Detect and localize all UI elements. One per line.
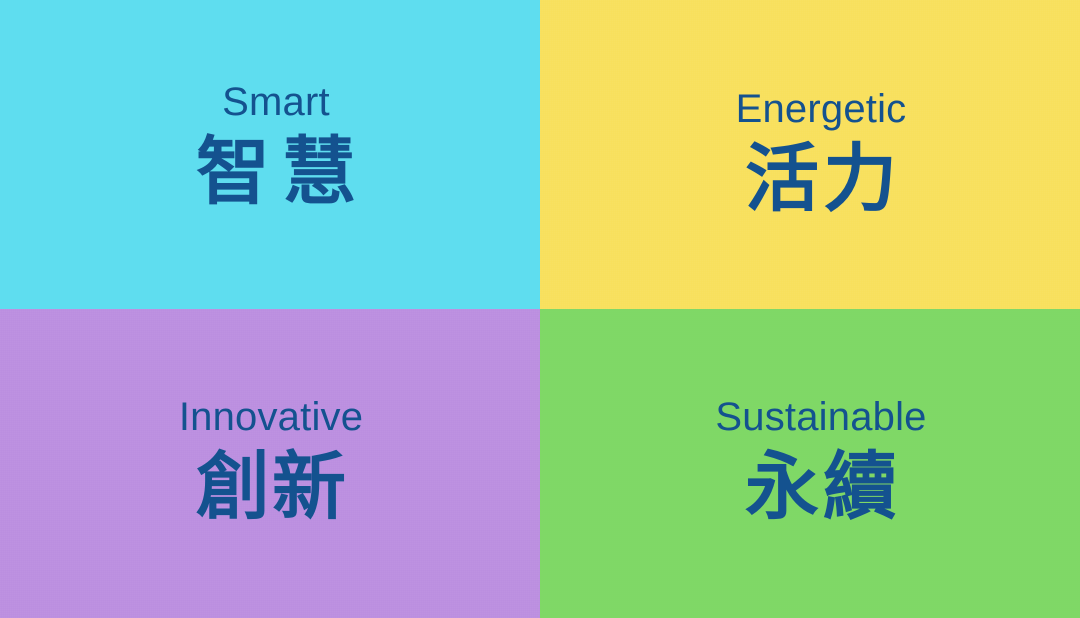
brand-values-grid: Smart 智慧 Energetic 活力 Innovative 創新 Sust… bbox=[0, 0, 1080, 618]
value-label-en-innovative: Innovative bbox=[179, 397, 363, 437]
value-label-en-energetic: Energetic bbox=[736, 89, 907, 129]
value-text-block-sustainable: Sustainable 永續 bbox=[715, 397, 926, 527]
quadrant-innovative: Innovative 創新 bbox=[0, 309, 540, 618]
value-label-zh-innovative: 創新 bbox=[181, 449, 363, 527]
value-label-zh-energetic: 活力 bbox=[740, 141, 907, 219]
value-text-block-smart: Smart 智慧 bbox=[184, 82, 368, 212]
value-label-en-sustainable: Sustainable bbox=[715, 397, 926, 437]
quadrant-smart: Smart 智慧 bbox=[0, 0, 540, 309]
quadrant-sustainable: Sustainable 永續 bbox=[540, 309, 1080, 618]
value-text-block-innovative: Innovative 創新 bbox=[179, 397, 363, 527]
value-label-en-smart: Smart bbox=[184, 82, 368, 122]
value-text-block-energetic: Energetic 活力 bbox=[736, 89, 907, 219]
value-label-zh-sustainable: 永續 bbox=[719, 449, 926, 527]
quadrant-energetic: Energetic 活力 bbox=[540, 0, 1080, 309]
value-label-zh-smart: 智慧 bbox=[196, 134, 368, 212]
